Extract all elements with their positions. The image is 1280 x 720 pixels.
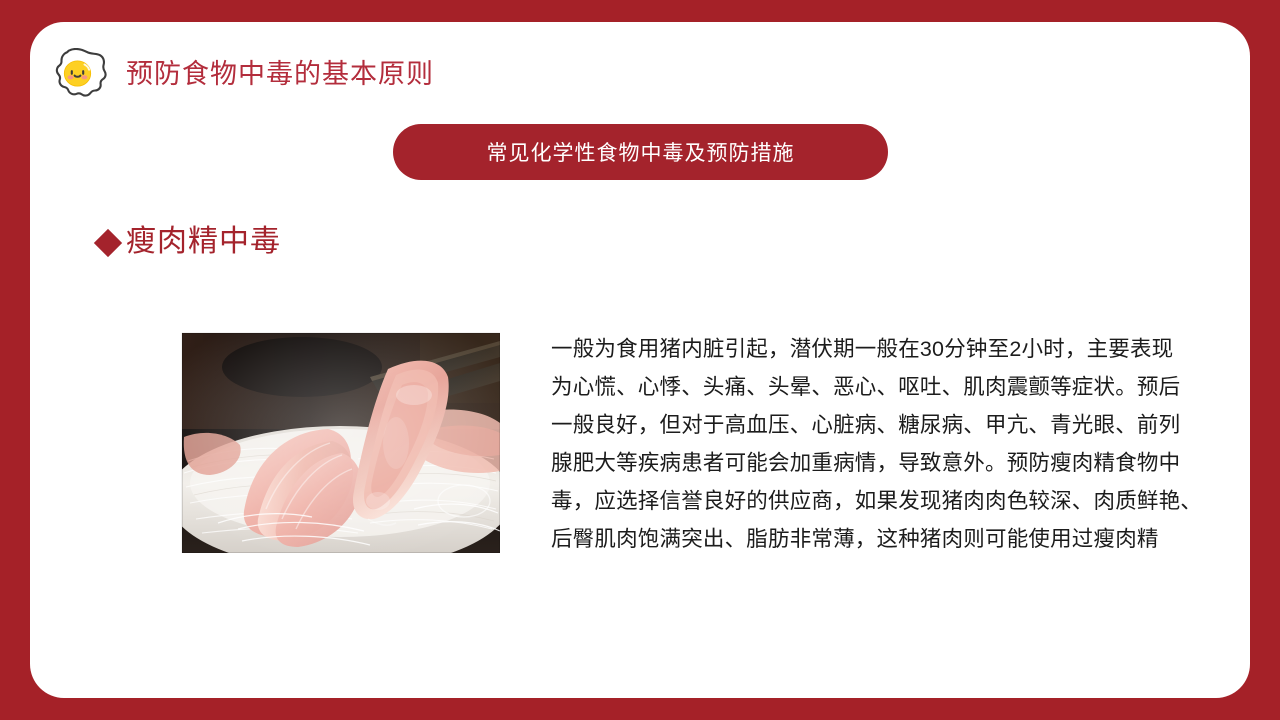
slide-header: 预防食物中毒的基本原则 [50, 44, 434, 104]
body-line: 一般良好，但对于高血压、心脏病、糖尿病、甲亢、青光眼、前列 [551, 406, 1206, 444]
pork-photo [182, 333, 500, 553]
slide-card: 预防食物中毒的基本原则 常见化学性食物中毒及预防措施 瘦肉精中毒 [30, 22, 1250, 698]
body-line: 毒，应选择信誉良好的供应商，如果发现猪肉肉色较深、肉质鲜艳、 [551, 482, 1206, 520]
page-title: 预防食物中毒的基本原则 [126, 61, 434, 88]
body-line: 为心慌、心悸、头痛、头晕、恶心、呕吐、肌肉震颤等症状。预后 [551, 368, 1206, 406]
section-banner-label: 常见化学性食物中毒及预防措施 [487, 137, 795, 167]
slide-root: 预防食物中毒的基本原则 常见化学性食物中毒及预防措施 瘦肉精中毒 [0, 0, 1280, 720]
section-heading-label: 瘦肉精中毒 [126, 227, 281, 257]
section-banner-pill: 常见化学性食物中毒及预防措施 [393, 124, 888, 180]
fried-egg-icon [50, 48, 112, 100]
diamond-bullet-icon [94, 229, 122, 257]
section-heading: 瘦肉精中毒 [98, 227, 281, 257]
body-line: 腺肥大等疾病患者可能会加重病情，导致意外。预防瘦肉精食物中 [551, 444, 1206, 482]
body-line: 后臀肌肉饱满突出、脂肪非常薄，这种猪肉则可能使用过瘦肉精 [551, 520, 1206, 558]
body-paragraph: 一般为食用猪内脏引起，潜伏期一般在30分钟至2小时，主要表现 为心慌、心悸、头痛… [551, 330, 1206, 558]
body-line: 一般为食用猪内脏引起，潜伏期一般在30分钟至2小时，主要表现 [551, 330, 1206, 368]
